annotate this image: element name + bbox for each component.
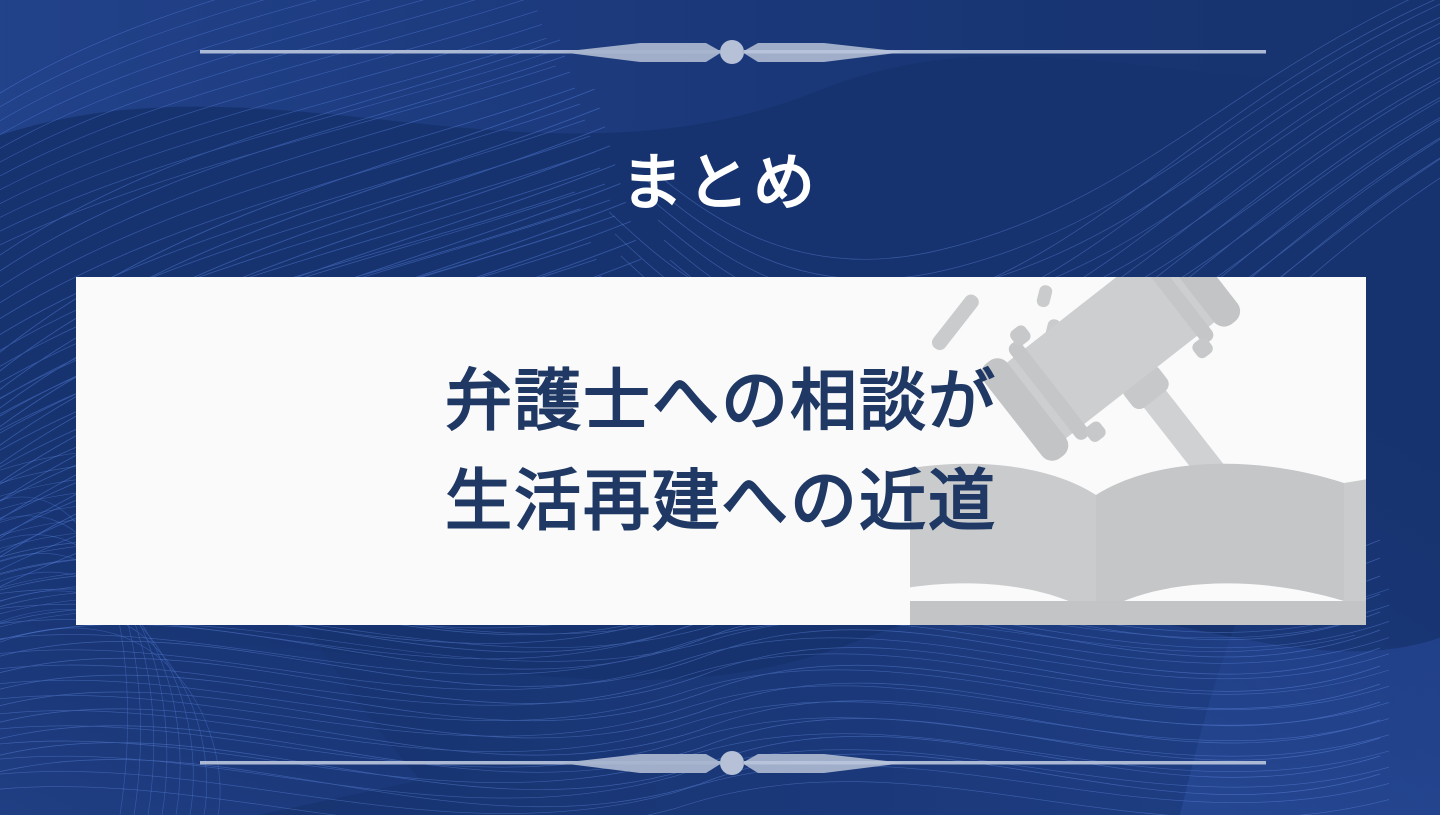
divider-wing-left [560,43,722,62]
divider-center-dot [720,40,744,64]
divider-center-dot [720,751,744,775]
divider-wing-right [742,43,904,62]
divider-wing-right [742,754,904,773]
divider-line-left [200,761,720,765]
page-title: まとめ [0,144,1440,222]
card-headline: 弁護士への相談が 生活再建への近道 [76,277,1366,625]
content-card: 弁護士への相談が 生活再建への近道 [76,277,1366,625]
headline-line-2: 生活再建への近道 [445,458,997,544]
bottom-divider [0,740,1440,786]
slide: まとめ [0,0,1440,815]
divider-line-left [200,50,720,54]
divider-wing-left [560,754,722,773]
top-divider [0,29,1440,75]
headline-line-1: 弁護士への相談が [445,358,997,444]
divider-line-right [744,761,1266,765]
divider-line-right [744,50,1266,54]
